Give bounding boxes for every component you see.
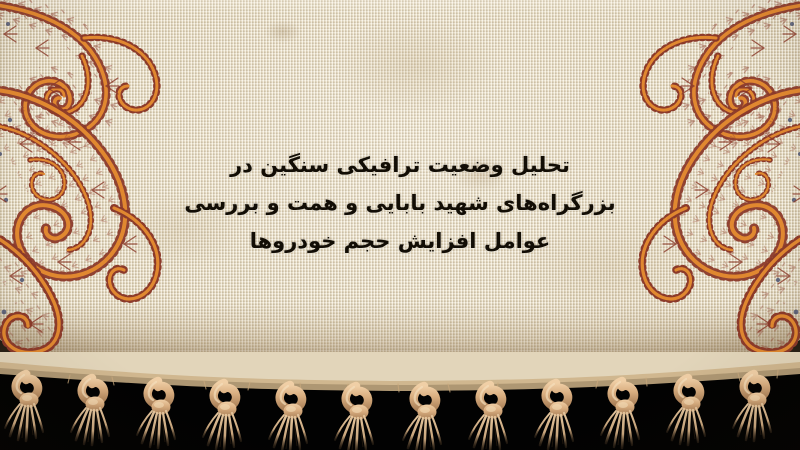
title-line-1: تحلیل وضعیت ترافیکی سنگین در: [0, 146, 800, 184]
cloth-bottom-shading: [0, 302, 800, 372]
slide-canvas: تحلیل وضعیت ترافیکی سنگین در بزرگراه‌های…: [0, 0, 800, 450]
title-line-3: عوامل افزایش حجم خودروها: [0, 222, 800, 260]
page-title: تحلیل وضعیت ترافیکی سنگین در بزرگراه‌های…: [0, 146, 800, 260]
title-line-2: بزرگراه‌های شهید بابایی و همت و بررسی: [0, 184, 800, 222]
